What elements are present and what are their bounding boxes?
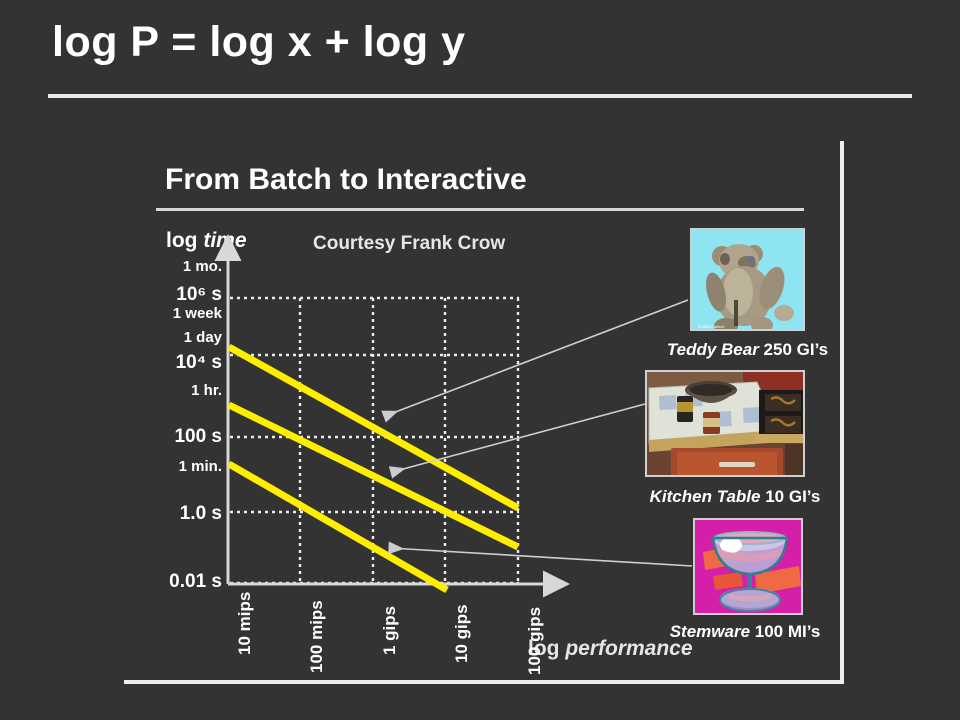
y-tick-label: 1.0 s [180,503,222,525]
grid-horizontal [230,298,519,583]
y-tick-label: 10⁶ s [176,284,222,306]
data-line-stemware [229,464,447,590]
x-tick-label: 100 gips [525,607,545,675]
y-tick-label: 1 hr. [191,382,222,399]
x-tick-label: 100 mips [307,600,327,673]
teddy-bear-artwork: ©1988 Caltech [692,230,805,331]
x-tick-label: 10 mips [235,592,255,655]
teddy-bear-caption: Teddy Bear 250 GI’s [635,340,860,360]
kitchen-table-artwork [647,372,805,477]
y-tick-label: 1 day [184,329,222,346]
arrow-to-stemware [390,548,692,566]
y-tick-label: 1 mo. [183,258,222,275]
x-tick-label: 10 gips [452,604,472,663]
stemware-artwork [695,520,803,615]
x-tick-label: 1 gips [380,606,400,655]
kitchen-table-photo [645,370,805,477]
stemware-caption: Stemware 100 MI’s [630,622,860,642]
svg-text:©1988 Caltech: ©1988 Caltech [698,324,725,329]
stemware-photo [693,518,803,615]
y-tick-label: 0.01 s [169,571,222,593]
chart-plot-area [0,0,960,720]
grid-vertical [300,298,518,584]
y-tick-label: 100 s [174,426,222,448]
y-tick-label: 10⁴ s [176,352,222,374]
kitchen-table-caption: Kitchen Table 10 GI’s [620,487,850,507]
y-tick-label: 1 min. [179,458,222,475]
teddy-bear-photo: ©1988 Caltech [690,228,805,331]
y-tick-label: 1 week [173,305,222,322]
slide-canvas: log P = log x + log y From Batch to Inte… [0,0,960,720]
